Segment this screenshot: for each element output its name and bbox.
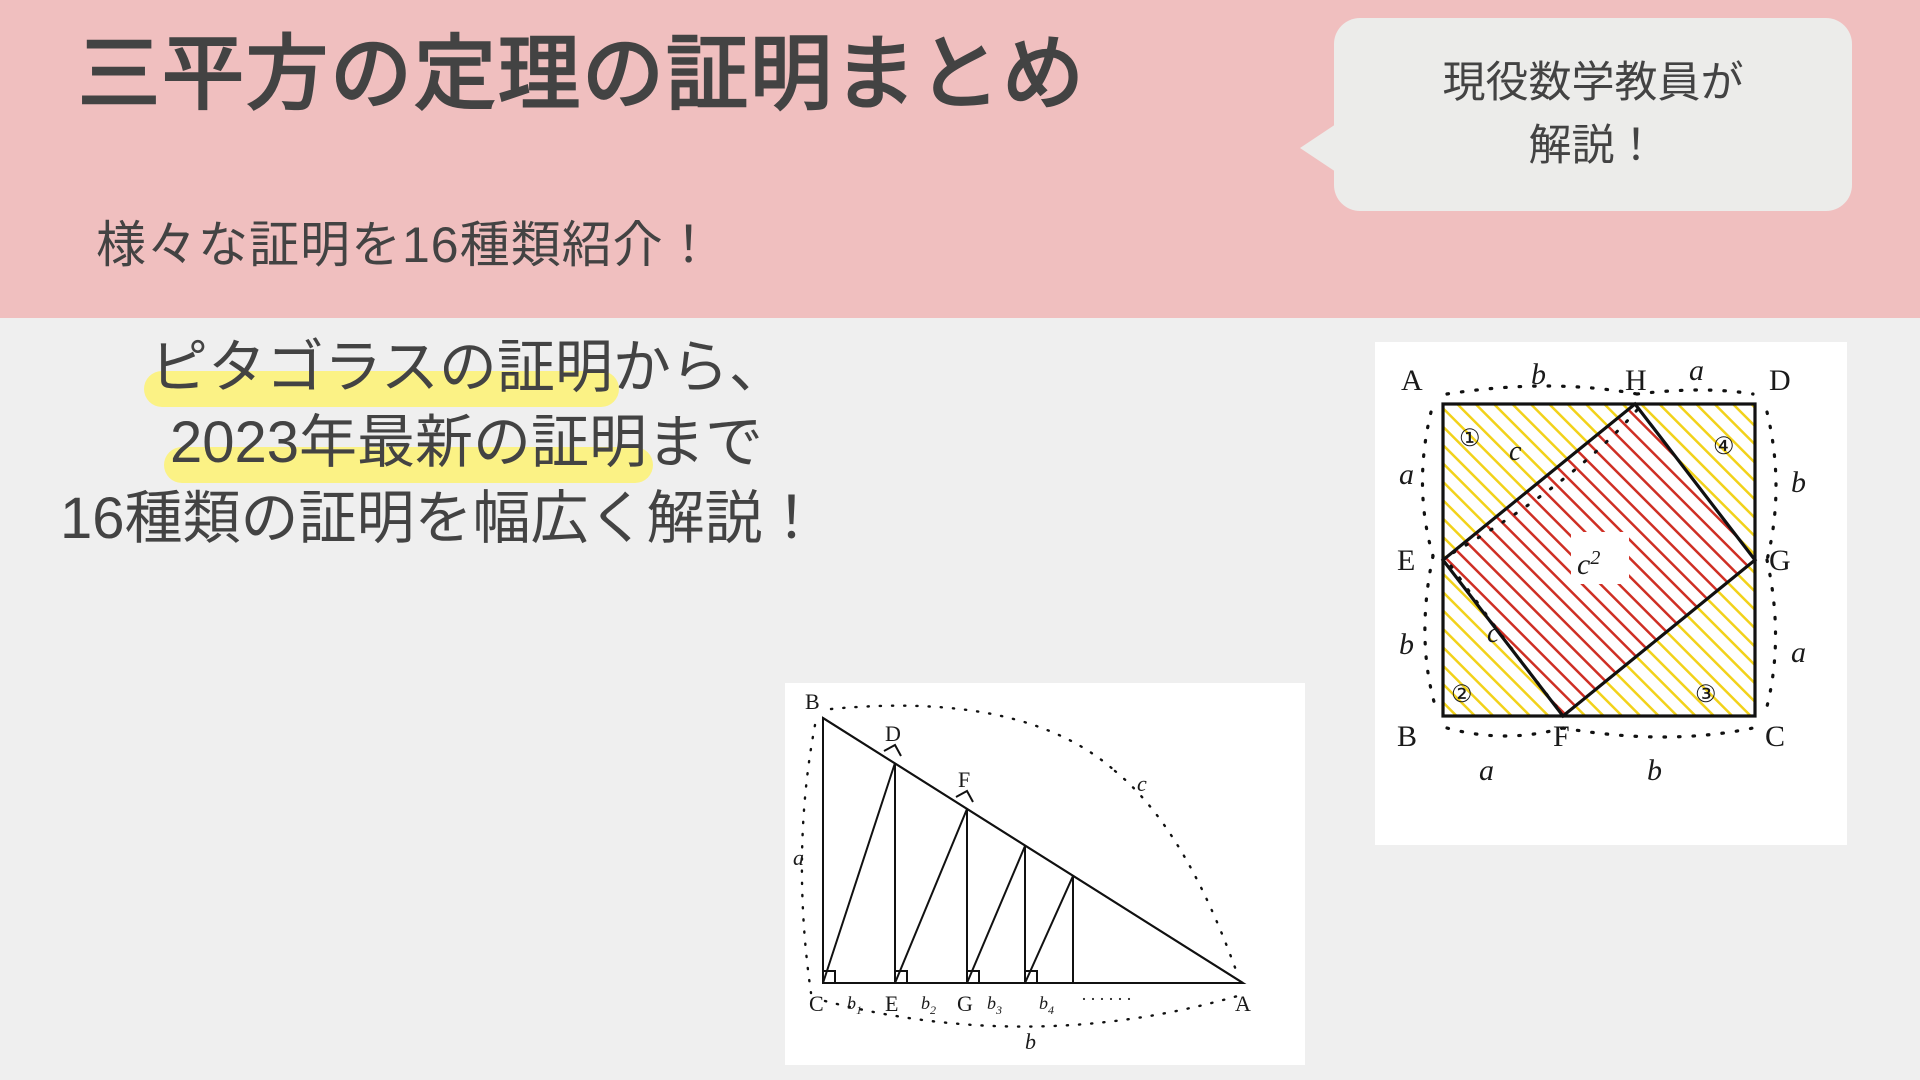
side-label-bottom-b: b bbox=[1647, 754, 1662, 787]
side-label-bottom-a: a bbox=[1479, 754, 1494, 787]
label-H: H bbox=[1625, 364, 1647, 397]
label-E: E bbox=[885, 991, 898, 1016]
label-F: F bbox=[958, 767, 970, 792]
label-D: D bbox=[1769, 364, 1791, 397]
side-label-b: b bbox=[1025, 1029, 1036, 1054]
label-G: G bbox=[957, 991, 973, 1016]
speech-bubble-line-1: 現役数学教員が bbox=[1443, 52, 1744, 114]
body-line-2-rest: まで bbox=[647, 410, 763, 475]
segment-label-b3: b3 bbox=[987, 993, 1002, 1017]
side-label-right-b: b bbox=[1791, 466, 1806, 499]
region-number-2: ② bbox=[1451, 682, 1473, 708]
figure-similar-triangles: B D F C E G A a c b b1 b2 b3 b4 ······ bbox=[785, 683, 1305, 1065]
figure-square-dissection-svg: A H D E G B F C b a a b b a a b ① ④ ② ③ … bbox=[1375, 342, 1847, 845]
inner-label-c-bottom: c bbox=[1487, 618, 1500, 649]
side-label-top-a: a bbox=[1689, 354, 1704, 387]
side-label-left-a: a bbox=[1399, 458, 1414, 491]
segment-C-D bbox=[823, 763, 895, 983]
segment-label-b4: b4 bbox=[1039, 993, 1054, 1017]
dotted-arc-right-upper bbox=[1767, 412, 1776, 560]
side-label-left-b: b bbox=[1399, 628, 1414, 661]
body-line-2: 2023年最新の証明まで bbox=[60, 405, 980, 480]
dotted-arc-left-lower bbox=[1425, 556, 1437, 712]
region-number-4: ④ bbox=[1713, 434, 1735, 460]
dotted-arc-bottom-right bbox=[1563, 728, 1753, 737]
segment-E-F bbox=[895, 809, 967, 983]
side-label-c: c bbox=[1137, 771, 1147, 796]
page-subtitle: 様々な証明を16種類紹介！ bbox=[96, 205, 715, 277]
region-number-1: ① bbox=[1459, 426, 1481, 452]
dotted-arc-top-right bbox=[1637, 390, 1753, 394]
region-number-3: ③ bbox=[1695, 682, 1717, 708]
segment-label-b1: b1 bbox=[847, 993, 862, 1017]
label-C: C bbox=[1765, 720, 1785, 753]
label-B: B bbox=[805, 689, 820, 714]
body-line-1: ピタゴラスの証明から、 bbox=[60, 330, 980, 405]
speech-bubble-tail-icon bbox=[1300, 124, 1336, 172]
label-A: A bbox=[1235, 991, 1251, 1016]
body-copy: ピタゴラスの証明から、 2023年最新の証明まで 16種類の証明を幅広く解説！ bbox=[60, 330, 980, 556]
label-A: A bbox=[1401, 364, 1423, 397]
body-line-2-highlight: 2023年最新の証明 bbox=[170, 405, 647, 480]
segment-label-b2: b2 bbox=[921, 993, 936, 1017]
side-label-top-b: b bbox=[1531, 358, 1546, 391]
dotted-arc-right-lower bbox=[1765, 560, 1776, 714]
dotted-arc-bottom-left bbox=[1447, 728, 1563, 736]
label-D: D bbox=[885, 721, 901, 746]
label-C: C bbox=[809, 991, 824, 1016]
figure-similar-triangles-svg: B D F C E G A a c b b1 b2 b3 b4 ······ bbox=[785, 683, 1305, 1065]
figure-square-dissection: A H D E G B F C b a a b b a a b ① ④ ② ③ … bbox=[1375, 342, 1847, 845]
dotted-arc-side-c-2 bbox=[1115, 771, 1237, 973]
body-line-3: 16種類の証明を幅広く解説！ bbox=[60, 481, 980, 556]
label-B: B bbox=[1397, 720, 1417, 753]
inner-label-c-top: c bbox=[1509, 436, 1522, 467]
dotted-arc-left-upper bbox=[1422, 412, 1433, 556]
label-E: E bbox=[1397, 544, 1415, 577]
segment-label-ellipsis: ······ bbox=[1081, 989, 1135, 1009]
right-angle-D bbox=[884, 745, 901, 756]
page-title: 三平方の定理の証明まとめ bbox=[78, 28, 1086, 122]
body-line-1-rest: から、 bbox=[613, 335, 787, 400]
hypotenuse-BA bbox=[823, 718, 1243, 983]
side-label-a: a bbox=[793, 845, 804, 870]
speech-bubble-line-2: 解説！ bbox=[1529, 115, 1658, 177]
body-line-1-highlight: ピタゴラスの証明 bbox=[150, 330, 613, 405]
speech-bubble: 現役数学教員が 解説！ bbox=[1334, 18, 1852, 211]
right-angle-F bbox=[956, 791, 973, 802]
segment-G-3 bbox=[967, 846, 1025, 983]
dotted-arc-side-c-1 bbox=[831, 706, 1115, 771]
segment-3-4 bbox=[1025, 876, 1073, 983]
label-G: G bbox=[1769, 544, 1791, 577]
side-label-right-a: a bbox=[1791, 636, 1806, 669]
label-F: F bbox=[1553, 720, 1570, 753]
